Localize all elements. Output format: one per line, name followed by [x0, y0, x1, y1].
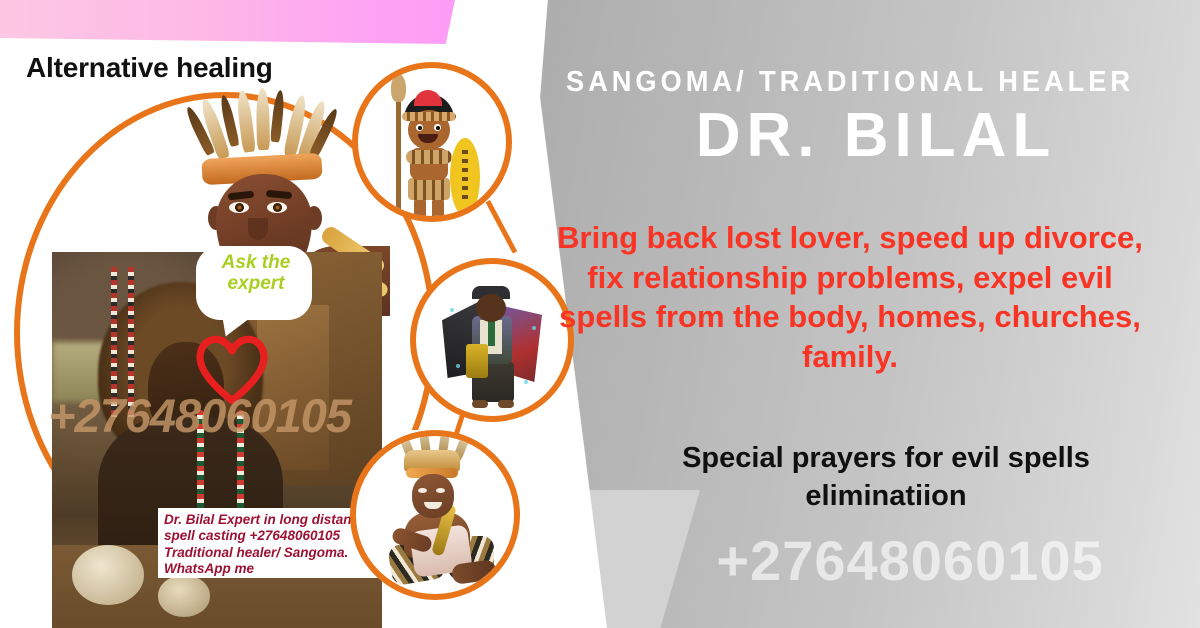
speech-bubble-label: Ask the expert — [200, 252, 312, 295]
page-title: Alternative healing — [26, 52, 273, 84]
services-text: Bring back lost lover, speed up divorce,… — [540, 218, 1160, 377]
crouching-sangoma-icon — [356, 436, 514, 594]
contact-phone-watermark: +27648060105 — [640, 528, 1180, 593]
circle-callout-sangoma — [350, 430, 520, 600]
prayer-text: Special prayers for evil spells eliminat… — [606, 440, 1166, 515]
zulu-warrior-icon — [358, 68, 506, 216]
healer-name-title: DR. BILAL — [566, 100, 1186, 171]
poster-canvas: Alternative healing — [0, 0, 1200, 628]
photo-watermark-phone: +27648060105 — [48, 388, 351, 443]
kicker-text: SANGOMA/ TRADITIONAL HEALER — [566, 66, 1139, 99]
pink-accent-bar — [0, 0, 455, 44]
speech-bubble-tail — [216, 307, 256, 341]
circle-callout-warrior — [352, 62, 512, 222]
